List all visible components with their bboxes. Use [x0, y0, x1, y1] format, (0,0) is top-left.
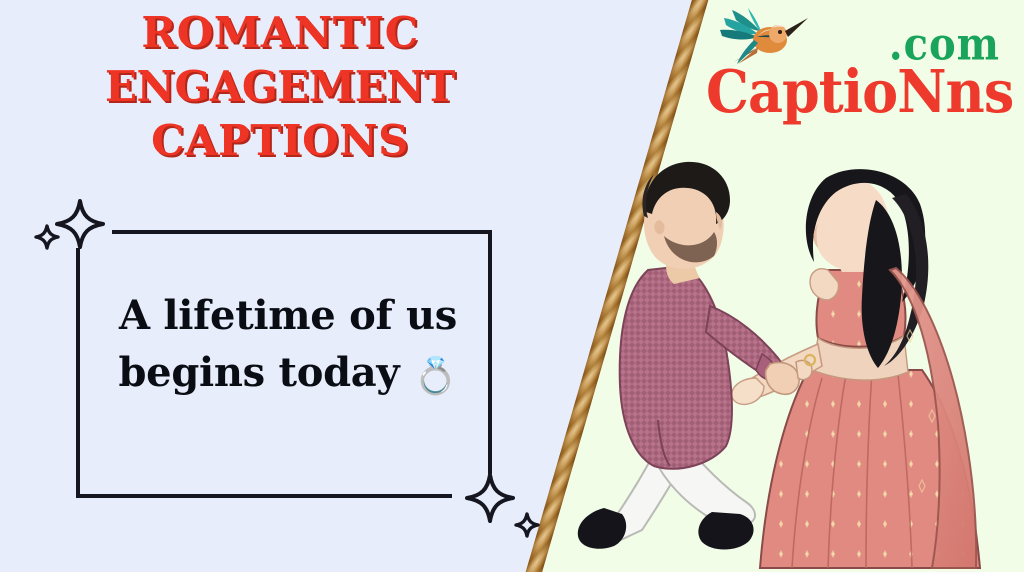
- site-logo[interactable]: .com CaptioNns: [706, 4, 1006, 130]
- page-title: ROMANTIC ENGAGEMENT CAPTIONS: [40, 6, 520, 167]
- logo-brand-name: CaptioNns: [706, 56, 1006, 126]
- sparkle-icon-bottom-right-small: [514, 512, 540, 538]
- ring-emoji: 💍: [413, 355, 458, 397]
- quote-text: A lifetime of us begins today 💍: [98, 288, 478, 402]
- frame-border-top: [112, 230, 492, 234]
- poster-canvas: ROMANTIC ENGAGEMENT CAPTIONS: [0, 0, 1024, 572]
- frame-border-left: [76, 248, 80, 498]
- page-title-line-1: ROMANTIC: [40, 6, 520, 60]
- frame-border-right: [488, 234, 492, 474]
- quote-line-2: begins today 💍: [98, 345, 478, 402]
- frame-border-bottom: [76, 494, 452, 498]
- quote-line-2-text: begins today: [119, 349, 400, 396]
- quote-card: A lifetime of us begins today 💍: [76, 230, 492, 498]
- sparkle-icon-top-left-large: [54, 198, 106, 250]
- page-title-line-2: ENGAGEMENT: [40, 60, 520, 114]
- quote-line-1: A lifetime of us: [98, 288, 478, 345]
- engagement-proposal-illustration: [560, 120, 1024, 572]
- sparkle-icon-bottom-right-large: [464, 472, 516, 524]
- page-title-line-3: CAPTIONS: [40, 114, 520, 168]
- sparkle-icon-top-left-small: [34, 224, 60, 250]
